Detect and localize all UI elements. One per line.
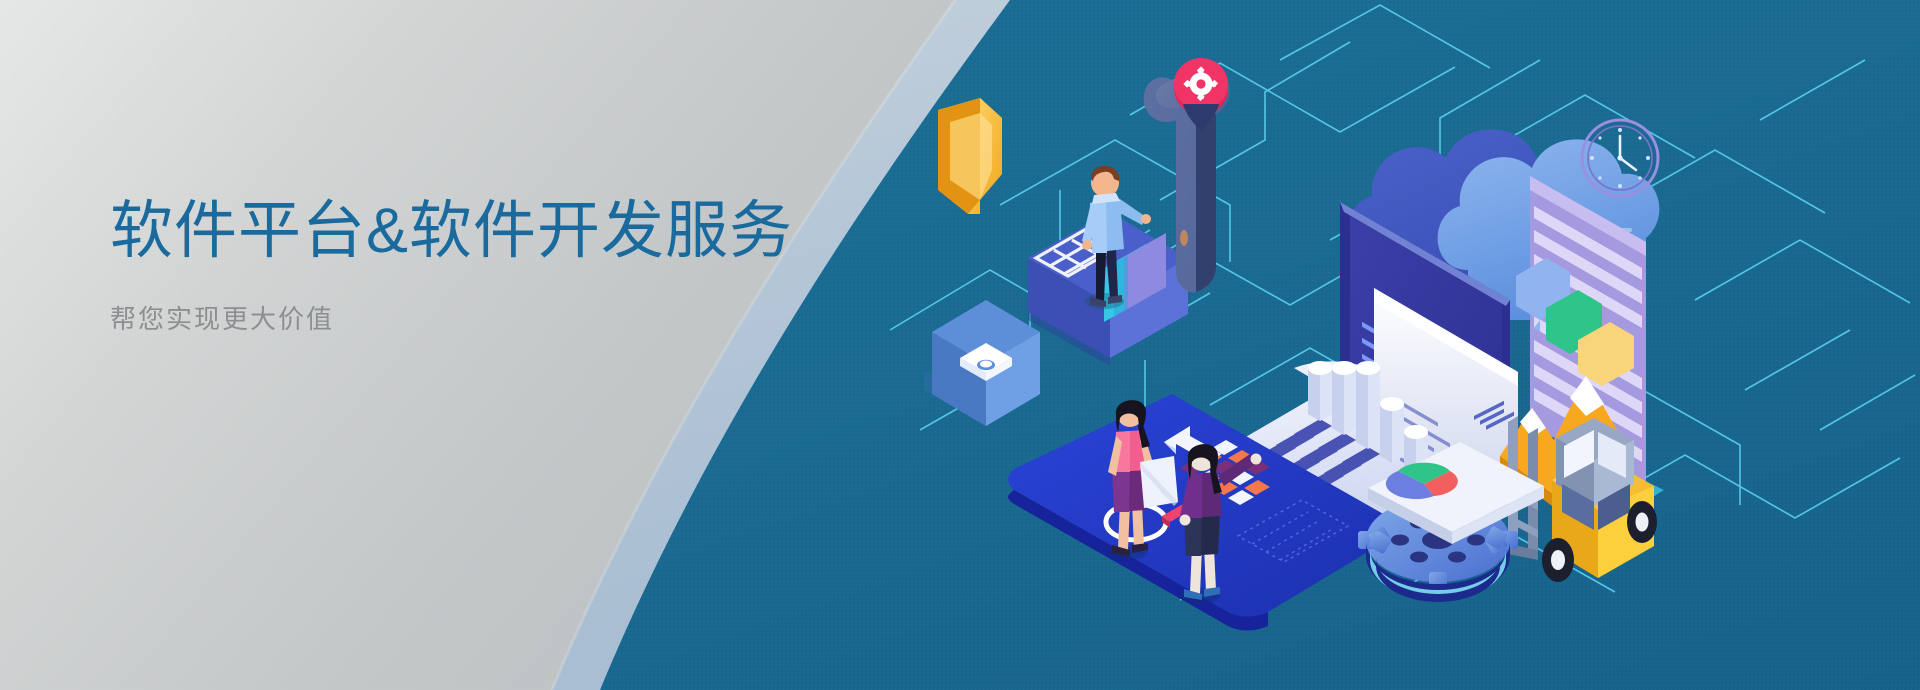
camera-tile-icon: [924, 300, 1040, 426]
shield-icon: [938, 98, 1002, 214]
hero-banner: 软件平台&软件开发服务 帮您实现更大价值: [0, 0, 1920, 690]
clock-icon: [1582, 120, 1658, 196]
page-title: 软件平台&软件开发服务: [110, 196, 830, 267]
banner-text-block: 软件平台&软件开发服务 帮您实现更大价值: [110, 196, 830, 336]
page-subtitle: 帮您实现更大价值: [110, 303, 830, 337]
isometric-illustration: [880, 0, 1920, 690]
